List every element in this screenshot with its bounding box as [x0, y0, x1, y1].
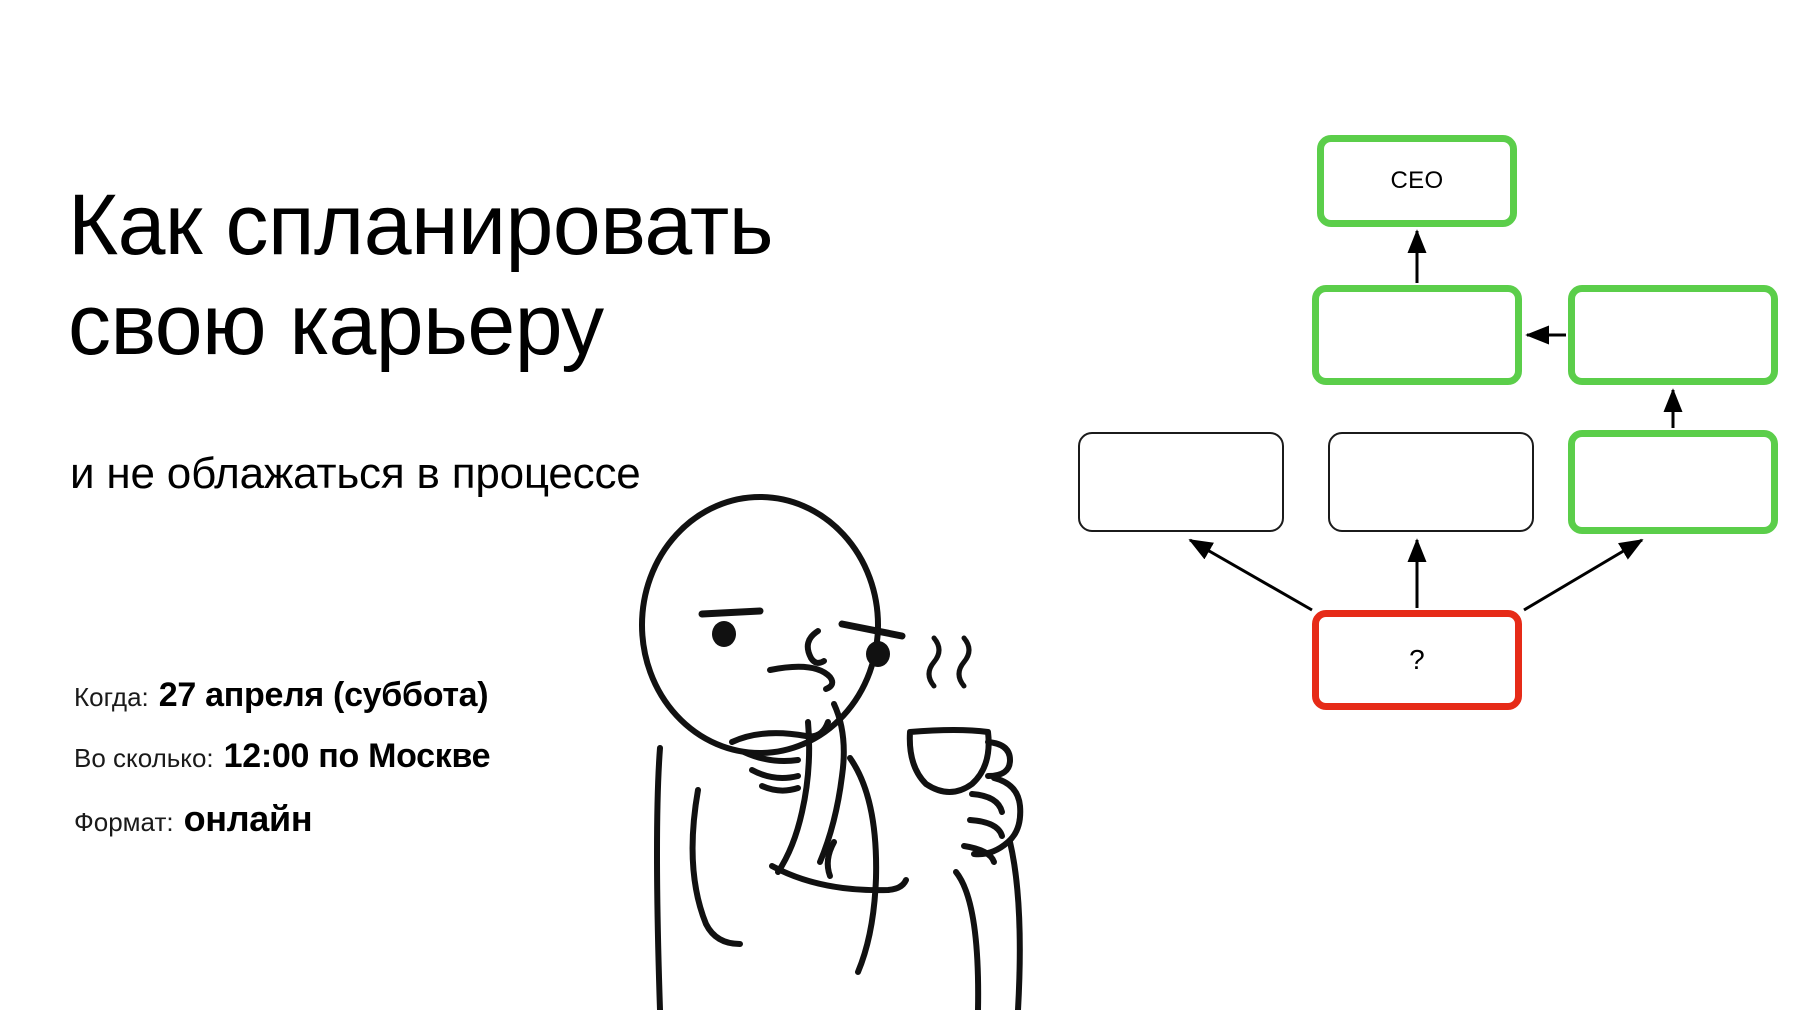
left-body-outline	[657, 748, 660, 1010]
finger-fold-2	[752, 770, 798, 778]
org-node-bottom-right[interactable]	[1568, 430, 1778, 534]
finger-fold-3	[762, 786, 798, 791]
left-arm-outline	[693, 790, 740, 944]
right-body-outline	[850, 758, 876, 972]
org-node-bottom-middle[interactable]	[1328, 432, 1534, 532]
slide-canvas: Как спланировать свою карьеру и не облаж…	[0, 0, 1814, 1010]
detail-value-when: 27 апреля (суббота)	[159, 676, 489, 715]
event-details-list: Когда: 27 апреля (суббота) Во сколько: 1…	[74, 676, 694, 840]
lower-hand-outline	[772, 866, 906, 890]
org-node-bottom-left[interactable]	[1078, 432, 1284, 532]
org-node-question-label: ?	[1409, 644, 1425, 676]
edge-question-to-botleft	[1190, 540, 1312, 610]
left-pupil-icon	[712, 621, 736, 647]
nose-outline	[808, 631, 824, 663]
org-node-mid-left[interactable]	[1312, 285, 1522, 385]
cup-hand-finger-1	[972, 794, 1002, 812]
cup-arm-outer	[1010, 842, 1020, 1010]
thinking-man-illustration	[620, 490, 1040, 1010]
coffee-cup-body	[910, 730, 989, 792]
org-node-ceo-label: CEO	[1391, 167, 1444, 195]
detail-value-format: онлайн	[184, 798, 313, 840]
org-node-ceo[interactable]: CEO	[1317, 135, 1517, 227]
page-title: Как спланировать свою карьеру	[68, 176, 908, 376]
right-pupil-icon	[866, 641, 890, 667]
detail-label-when: Когда:	[74, 682, 149, 713]
org-chart: CEO ?	[1040, 110, 1814, 750]
left-eyebrow-icon	[702, 611, 760, 614]
detail-row: Во сколько: 12:00 по Москве	[74, 737, 694, 776]
index-finger-outline	[732, 722, 828, 742]
steam-line-left	[929, 638, 939, 686]
detail-row: Когда: 27 апреля (суббота)	[74, 676, 694, 715]
right-eyebrow-icon	[842, 624, 902, 636]
mouth-outline	[770, 667, 832, 689]
page-subtitle: и не облажаться в процессе	[70, 448, 641, 501]
detail-label-time: Во сколько:	[74, 743, 214, 774]
detail-row: Формат: онлайн	[74, 798, 694, 840]
detail-label-format: Формат:	[74, 807, 174, 838]
org-node-mid-right[interactable]	[1568, 285, 1778, 385]
cup-arm-outline	[956, 872, 978, 1010]
cup-hand-finger-2	[970, 820, 1002, 836]
cup-hand-outline	[974, 778, 1020, 854]
title-block: Как спланировать свою карьеру	[68, 176, 908, 376]
edge-question-to-botright	[1524, 540, 1642, 610]
org-node-question[interactable]: ?	[1312, 610, 1522, 710]
thumb-outline	[828, 842, 834, 876]
steam-line-right	[959, 638, 969, 686]
detail-value-time: 12:00 по Москве	[224, 737, 491, 776]
